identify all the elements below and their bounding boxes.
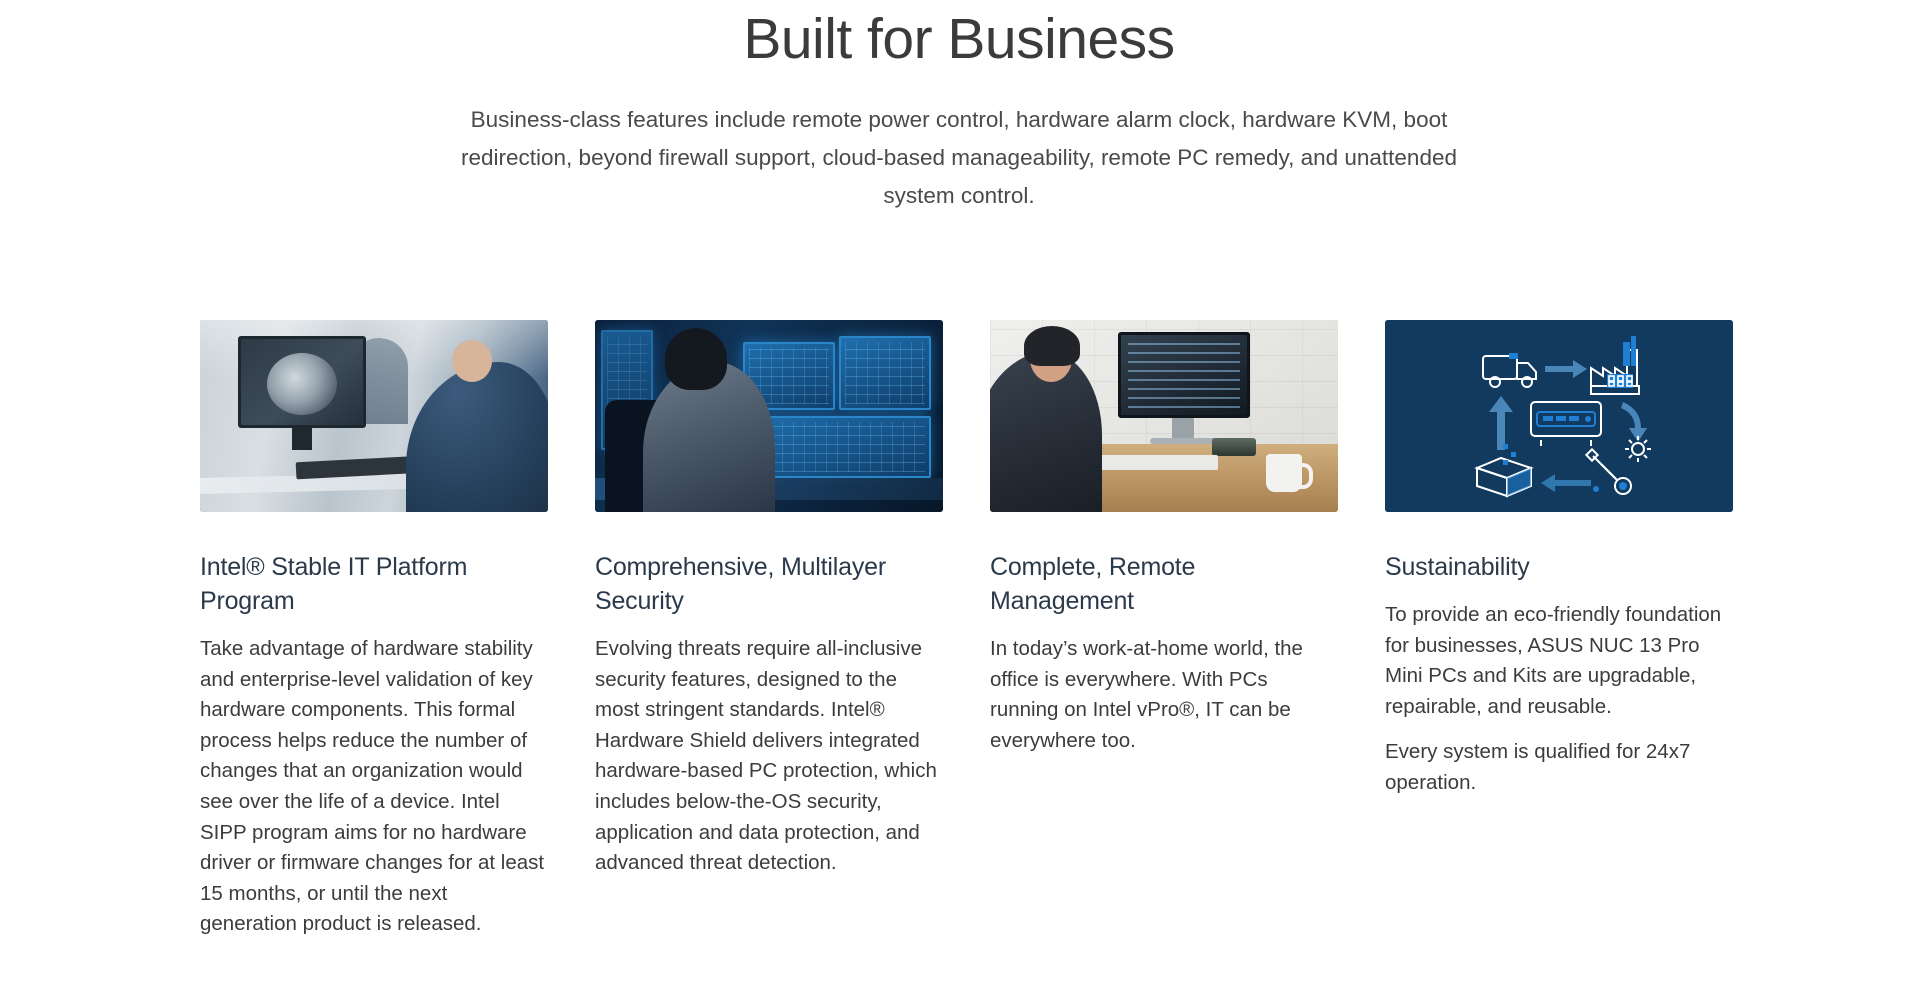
mini-pc-accent: [1543, 416, 1591, 422]
arrow-box-to-truck: [1489, 396, 1513, 450]
card-body-3: In today’s work-at-home world, the offic…: [990, 634, 1338, 756]
feature-card-remote-management: Complete, Remote Management In today’s w…: [990, 320, 1338, 940]
arrow-truck-to-factory: [1545, 360, 1587, 378]
mini-pc-icon: [1531, 402, 1601, 446]
card-title-4: Sustainability: [1385, 550, 1733, 584]
feature-card-grid: Intel® Stable IT Platform Program Take a…: [200, 320, 1780, 940]
feature-card-sustainability: Sustainability To provide an eco-friendl…: [1385, 320, 1733, 940]
card-media-2: [595, 320, 943, 512]
feature-card-multilayer-security: Comprehensive, Multilayer Security Evolv…: [595, 320, 943, 940]
tool-accent: [1593, 482, 1627, 492]
page-title: Built for Business: [0, 6, 1918, 73]
feature-card-stable-it-platform: Intel® Stable IT Platform Program Take a…: [200, 320, 548, 940]
built-for-business-section: Built for Business Business-class featur…: [0, 0, 1918, 991]
card-body-4b: Every system is qualified for 24x7 opera…: [1385, 737, 1733, 798]
photo-engineer-at-cad-workstation: [200, 320, 548, 512]
card-media-4: [1385, 320, 1733, 512]
card-body-2: Evolving threats require all-inclusive s…: [595, 634, 943, 879]
hero: Built for Business Business-class featur…: [0, 0, 1918, 215]
illustration-circular-economy-lifecycle: [1385, 320, 1733, 512]
gear-icon: [1625, 436, 1651, 462]
arrow-repair-to-box: [1541, 474, 1591, 492]
card-title-1: Intel® Stable IT Platform Program: [200, 550, 548, 618]
photo-remote-worker-at-home-desk: [990, 320, 1338, 512]
card-title-2: Comprehensive, Multilayer Security: [595, 550, 943, 618]
hero-subtitle: Business-class features include remote p…: [429, 101, 1489, 215]
photo-security-operations-center: [595, 320, 943, 512]
card-media-3: [990, 320, 1338, 512]
card-media-1: [200, 320, 548, 512]
delivery-truck-icon: [1483, 356, 1536, 387]
card-body-4a: To provide an eco-friendly foundation fo…: [1385, 600, 1733, 722]
card-body-1: Take advantage of hardware stability and…: [200, 634, 548, 940]
truck-accent: [1509, 353, 1518, 359]
arrow-factory-to-repair: [1621, 402, 1647, 442]
card-title-3: Complete, Remote Management: [990, 550, 1338, 618]
circular-economy-svg: [1385, 320, 1733, 512]
